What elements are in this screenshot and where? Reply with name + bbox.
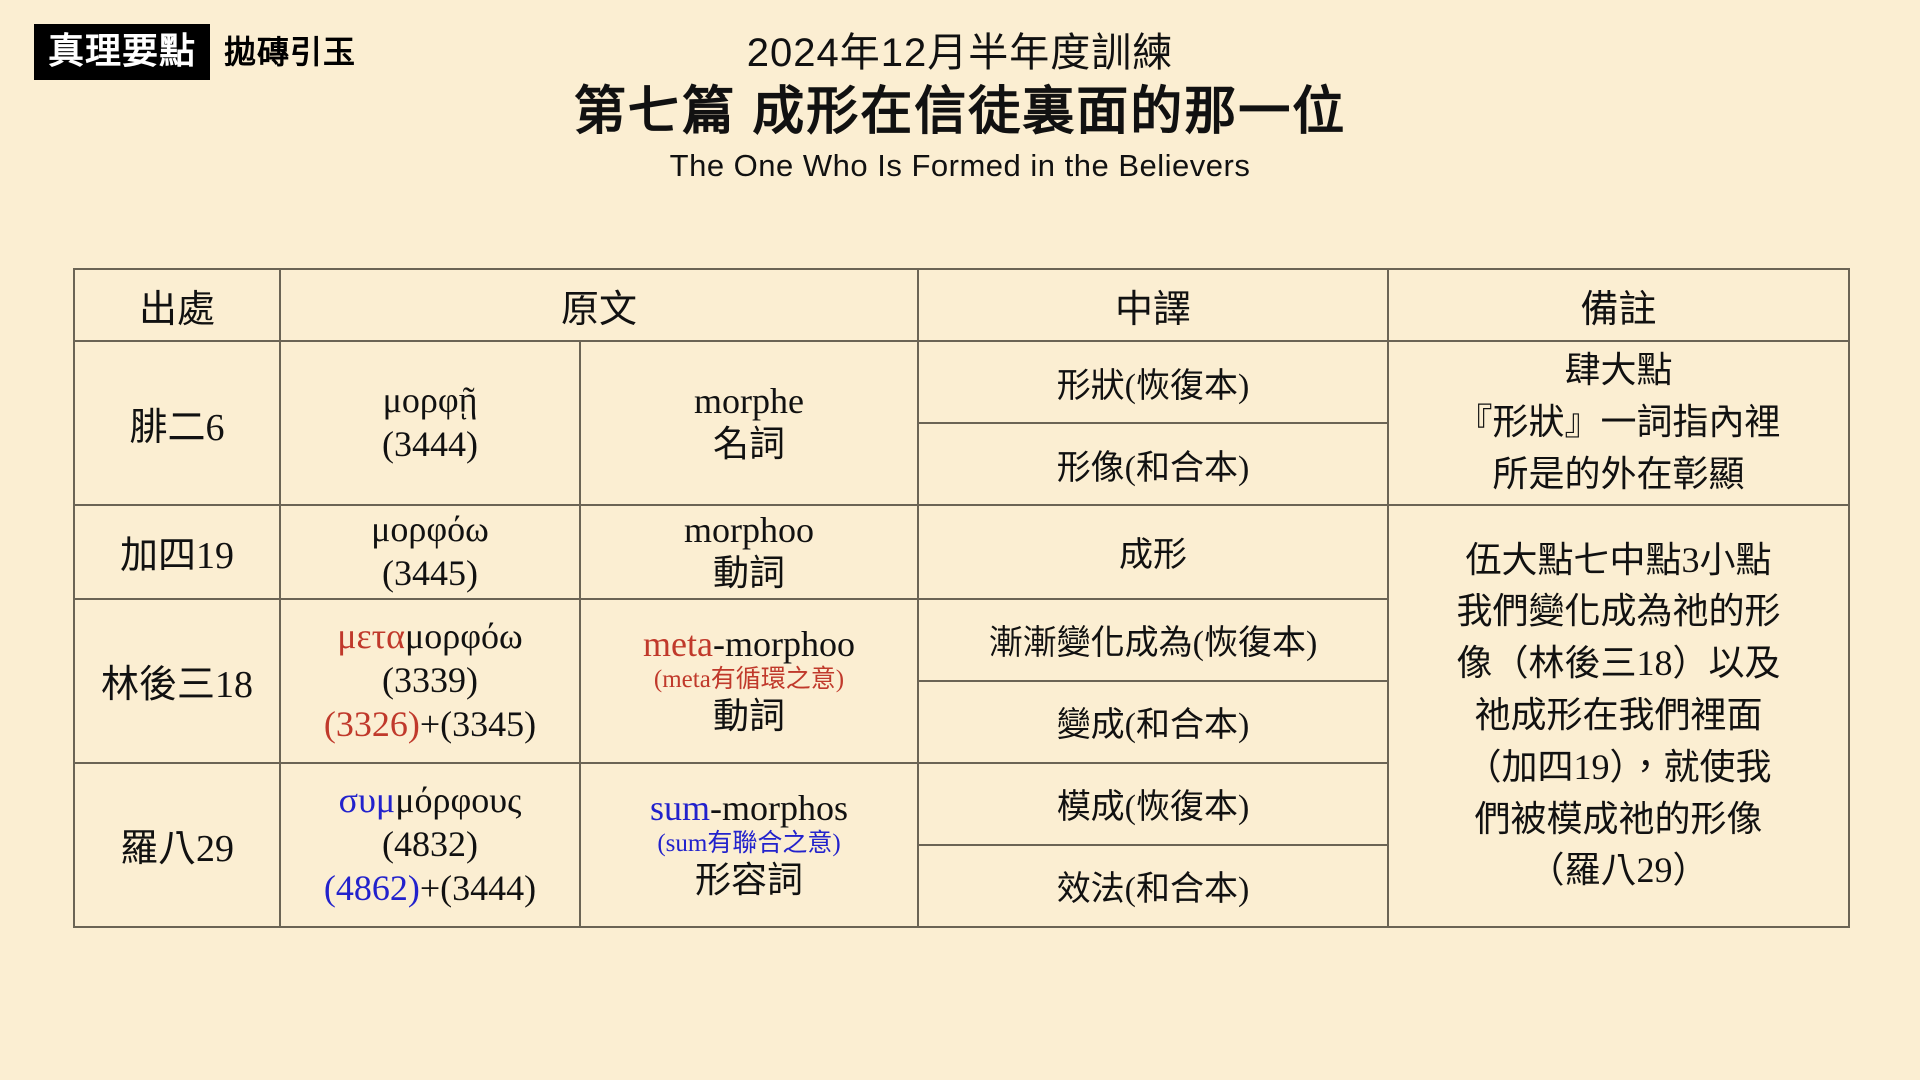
cell-translation-forming: 成形 [918,505,1388,599]
transliteration-prefix: meta [643,624,713,664]
greek-strongs-code-prefix: (4862) [324,868,420,908]
message-title-english: The One Who Is Formed in the Believers [0,147,1920,184]
truth-point-badge: 真理要點 [34,24,210,80]
greek-word: μόρφους [395,780,521,820]
remark-line: 『形狀』一詞指內裡 [1395,397,1842,449]
part-of-speech: 名詞 [713,424,785,464]
part-of-speech: 動詞 [713,696,785,736]
remark-line: 像（林後三18）以及 [1395,638,1842,690]
greek-strongs-code-prefix: (3326) [324,704,420,744]
remark-line: 肆大點 [1395,345,1842,397]
cell-translation-union-3: 變成(和合本) [918,681,1388,763]
word-study-table-container: 出處 原文 中譯 備註 腓二6 μορφῇ (3444) morphe 名 [73,268,1848,928]
cell-transliteration-metamorphoo: meta-morphoo (meta有循環之意) 動詞 [580,599,918,763]
remark-line: 祂成形在我們裡面 [1395,690,1842,742]
header-badge-group: 真理要點 拋磚引玉 [34,24,356,80]
transliteration-note: (meta有循環之意) [587,666,911,695]
cell-greek-summorphous: συμμόρφους (4832) (4862)+(3444) [280,763,580,927]
transliteration: morphoo [684,510,814,550]
cell-remark-point-5-merged: 伍大點七中點3小點 我們變化成為祂的形 像（林後三18）以及 祂成形在我們裡面 … [1388,505,1849,927]
greek-strongs-code: (3339) [382,660,478,700]
cell-reference-rom-8-29: 羅八29 [74,763,280,927]
greek-strongs-code: (3444) [382,424,478,464]
cell-transliteration-morphe: morphe 名詞 [580,341,918,505]
cell-translation-union-1: 形像(和合本) [918,423,1388,505]
cell-reference-phil-2-6: 腓二6 [74,341,280,505]
transliteration: morphe [694,381,804,421]
cell-reference-2cor-3-18: 林後三18 [74,599,280,763]
transliteration-root: -morphoo [713,624,855,664]
table-row: 加四19 μορφόω (3445) morphoo 動詞 成形 伍大點七中點3… [74,505,1849,599]
header-original-text: 原文 [280,269,918,341]
badge-subtitle: 拋磚引玉 [224,36,356,68]
greek-strongs-code: (4832) [382,824,478,864]
table-row: 腓二6 μορφῇ (3444) morphe 名詞 形狀(恢復本) 肆大點 『… [74,341,1849,423]
header-chinese-translation: 中譯 [918,269,1388,341]
cell-transliteration-summorphos: sum-morphos (sum有聯合之意) 形容詞 [580,763,918,927]
cell-greek-morphoo: μορφόω (3445) [280,505,580,599]
header-source: 出處 [74,269,280,341]
message-title-chinese: 第七篇 成形在信徒裏面的那一位 [0,80,1920,145]
cell-translation-union-4: 效法(和合本) [918,845,1388,927]
greek-prefix: μετα [337,616,405,656]
cell-transliteration-morphoo: morphoo 動詞 [580,505,918,599]
greek-strongs-code: (3445) [382,553,478,593]
transliteration-prefix: sum [650,788,710,828]
greek-word: μορφόω [371,509,489,549]
remark-line: 我們變化成為祂的形 [1395,586,1842,638]
header-remarks: 備註 [1388,269,1849,341]
cell-greek-morphe: μορφῇ (3444) [280,341,580,505]
cell-remark-point-4: 肆大點 『形狀』一詞指內裡 所是的外在彰顯 [1388,341,1849,505]
remark-line: 所是的外在彰顯 [1395,449,1842,501]
part-of-speech: 形容詞 [695,860,803,900]
table-header-row: 出處 原文 中譯 備註 [74,269,1849,341]
remark-line: 伍大點七中點3小點 [1395,535,1842,587]
greek-word: μορφόω [405,616,523,656]
remark-line: （加四19），就使我 [1395,742,1842,794]
greek-word: μορφῇ [383,380,478,420]
transliteration-note: (sum有聯合之意) [587,830,911,859]
transliteration-root: -morphos [710,788,848,828]
remark-line: 們被模成祂的形像 [1395,794,1842,846]
word-study-table: 出處 原文 中譯 備註 腓二6 μορφῇ (3444) morphe 名 [73,268,1850,928]
cell-greek-metamorphoo: μεταμορφόω (3339) (3326)+(3345) [280,599,580,763]
slide-canvas: 真理要點 拋磚引玉 2024年12月半年度訓練 第七篇 成形在信徒裏面的那一位 … [0,0,1920,1080]
cell-translation-recovery-4: 模成(恢復本) [918,763,1388,845]
part-of-speech: 動詞 [713,553,785,593]
greek-strongs-code-root: +(3345) [420,704,536,744]
remark-line: （羅八29） [1395,845,1842,897]
cell-reference-gal-4-19: 加四19 [74,505,280,599]
cell-translation-recovery-3: 漸漸變化成為(恢復本) [918,599,1388,681]
cell-translation-recovery-1: 形狀(恢復本) [918,341,1388,423]
greek-prefix: συμ [339,780,396,820]
greek-strongs-code-root: +(3444) [420,868,536,908]
